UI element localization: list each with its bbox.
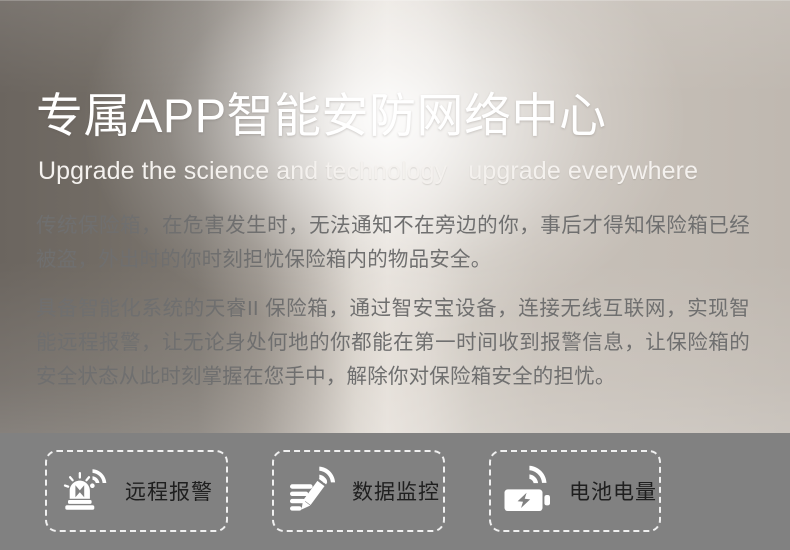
top-highlight-line — [0, 0, 790, 1]
page-title: 专属APP智能安防网络中心 — [36, 92, 607, 139]
page-subtitle: Upgrade the science and technology upgra… — [38, 157, 698, 186]
feature-label: 数据监控 — [352, 476, 440, 506]
feature-item-remote-alarm[interactable]: 远程报警 — [45, 450, 228, 532]
siren-wifi-icon — [59, 463, 115, 519]
promo-banner: 专属APP智能安防网络中心 Upgrade the science and te… — [0, 0, 790, 550]
body-paragraph-2: 具备智能化系统的天睿II 保险箱，通过智安宝设备，连接无线互联网，实现智能远程报… — [36, 292, 750, 394]
battery-bolt-wifi-icon — [503, 463, 559, 519]
feature-label: 远程报警 — [125, 476, 213, 506]
feature-item-battery-level[interactable]: 电池电量 — [489, 450, 661, 532]
pencil-list-wifi-icon — [286, 463, 342, 519]
feature-band: 远程报警 — [0, 433, 790, 550]
body-paragraph-1: 传统保险箱，在危害发生时，无法通知不在旁边的你，事后才得知保险箱已经被盗，外出时… — [36, 209, 750, 277]
feature-list: 远程报警 — [45, 450, 661, 532]
feature-item-data-monitoring[interactable]: 数据监控 — [272, 450, 445, 532]
feature-label: 电池电量 — [569, 476, 657, 506]
